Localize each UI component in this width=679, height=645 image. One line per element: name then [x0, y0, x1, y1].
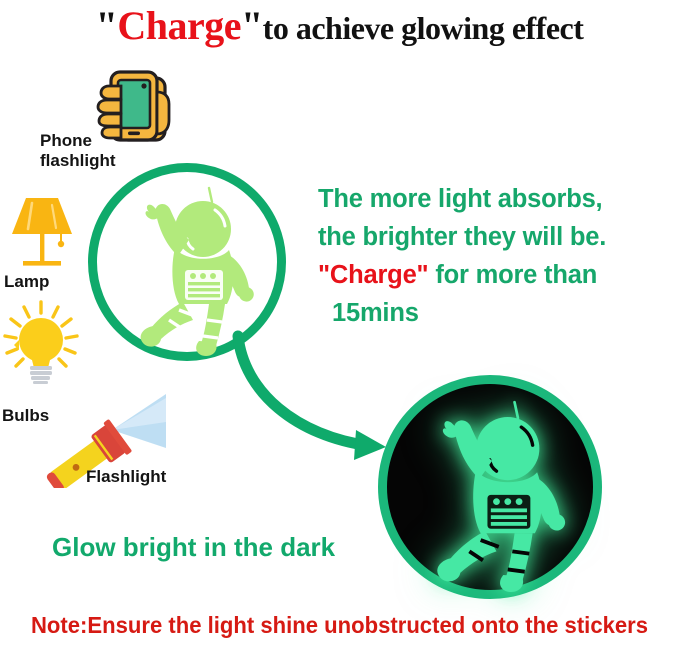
title-quote-open: ": [96, 3, 118, 48]
paragraph-duration: 15mins: [318, 294, 419, 332]
paragraph-charge-word: "Charge": [318, 261, 428, 289]
phone-flashlight-label-line1: Phone: [40, 131, 92, 150]
phone-flashlight-label: Phone flashlight: [40, 131, 116, 171]
phone-flashlight-label-line2: flashlight: [40, 151, 116, 170]
paragraph-line-1: The more light absorbs,: [318, 180, 678, 218]
paragraph-line-3: "Charge" for more than: [318, 256, 678, 294]
lamp-label: Lamp: [4, 272, 49, 292]
paragraph-line-3-rest: for more than: [428, 261, 597, 289]
benefit-paragraph: The more light absorbs, the brighter the…: [318, 180, 678, 332]
title-rest: to achieve glowing effect: [263, 10, 584, 46]
sticker-in-dark-circle: [378, 375, 602, 599]
paragraph-line-2: the brighter they will be.: [318, 218, 678, 256]
title-charge-word: Charge: [117, 3, 241, 48]
lamp-icon: [6, 192, 78, 272]
flashlight-label: Flashlight: [86, 467, 166, 487]
infographic-page: "Charge"to achieve glowing effect Phone …: [0, 0, 679, 645]
glow-caption: Glow bright in the dark: [52, 532, 335, 563]
footer-note: Note:Ensure the light shine unobstructed…: [14, 612, 666, 639]
title-quote-close: ": [241, 3, 263, 48]
page-title: "Charge"to achieve glowing effect: [0, 2, 679, 49]
astronaut-sticker-glowing: [417, 400, 585, 592]
bulb-icon: [2, 300, 80, 384]
paragraph-line-4: 15mins: [318, 294, 678, 332]
